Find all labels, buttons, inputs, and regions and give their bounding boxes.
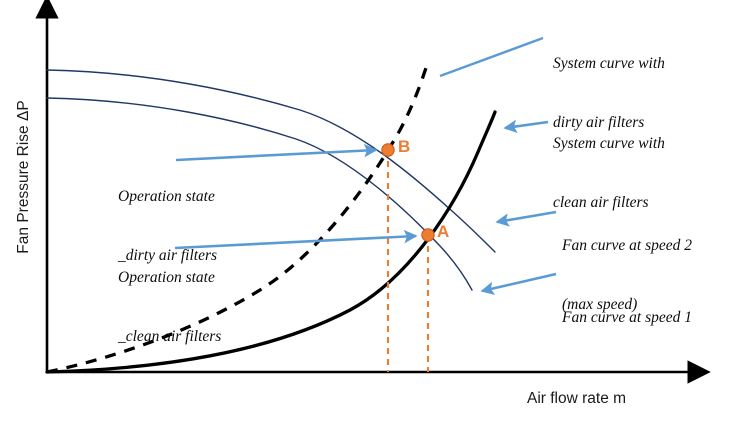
system-curve-dirty-path [47,62,428,372]
leader-system-curve-dirty [440,38,543,76]
leader-fan-curve-speed-2 [497,212,556,222]
fan-system-curve-figure: Fan Pressure Rise ΔP Air flow rate m Sys… [0,0,729,432]
annotation-line: System curve with [553,134,665,154]
annotation-line: Operation state [118,268,221,288]
annotation-line: Fan curve at speed 1 [562,308,692,328]
leader-fan-curve-speed-1 [482,274,556,291]
annotation-line: Operation state [118,187,217,207]
leader-system-curve-clean [505,122,548,128]
annotation-fan-curve-speed-1: Fan curve at speed 1 [562,268,692,367]
annotation-line: Fan curve at speed 2 [562,236,692,256]
x-axis-title: Air flow rate m [527,390,626,408]
annotation-line: System curve with [553,54,665,74]
y-axis-title: Fan Pressure Rise ΔP [15,67,33,287]
annotation-operation-state-clean: Operation state _clean air filters [118,228,221,387]
operating-point-label-A: A [437,222,449,242]
operating-point-A[interactable] [422,229,434,241]
annotation-line: _clean air filters [118,327,221,347]
fan-curve-speed-2-path [47,70,495,252]
operating-point-B[interactable] [382,144,394,156]
operating-point-label-B: B [398,137,410,157]
